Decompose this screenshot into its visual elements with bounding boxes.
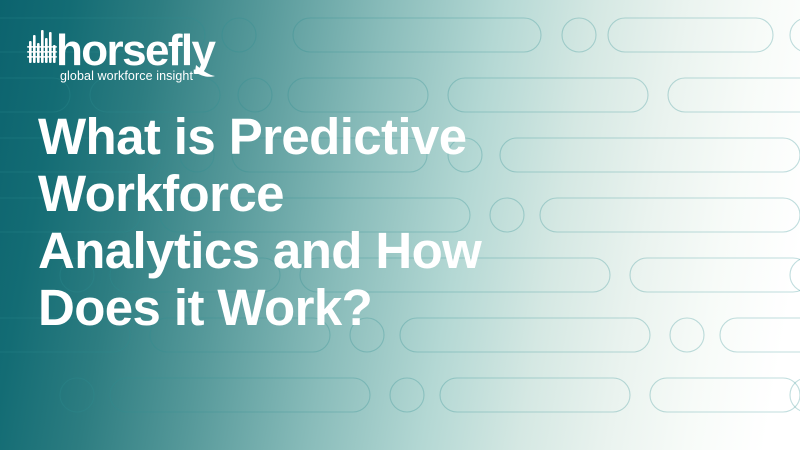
pattern-pill	[720, 318, 800, 352]
logo-wordmark: horsefly	[56, 26, 216, 75]
pattern-circle	[562, 18, 596, 52]
pattern-pill	[608, 18, 773, 52]
horsefly-logo[interactable]: horsefly global workforce insight	[27, 21, 242, 83]
pattern-pill	[630, 258, 800, 292]
pattern-pill	[650, 378, 800, 412]
pattern-circle	[790, 258, 800, 292]
pattern-circle	[790, 378, 800, 412]
pattern-pill	[668, 78, 800, 112]
pattern-pill	[440, 378, 630, 412]
barcode-bars-mark	[27, 30, 57, 63]
pattern-pill	[448, 78, 648, 112]
pattern-circle	[60, 378, 94, 412]
pattern-pill	[540, 198, 800, 232]
pattern-circle	[670, 318, 704, 352]
logo-svg: horsefly global workforce insight	[27, 21, 242, 83]
page-title: What is Predictive Workforce Analytics a…	[38, 108, 558, 336]
pattern-pill	[0, 78, 70, 112]
pattern-pill	[288, 78, 428, 112]
logo-tagline: global workforce insight	[60, 69, 193, 83]
pattern-pill	[90, 78, 220, 112]
pattern-circle	[238, 78, 272, 112]
pattern-circle	[390, 378, 424, 412]
blog-hero-banner: horsefly global workforce insight What i…	[0, 0, 800, 450]
pattern-pill	[293, 18, 541, 52]
pattern-circle	[790, 18, 800, 52]
pattern-pill	[110, 378, 370, 412]
